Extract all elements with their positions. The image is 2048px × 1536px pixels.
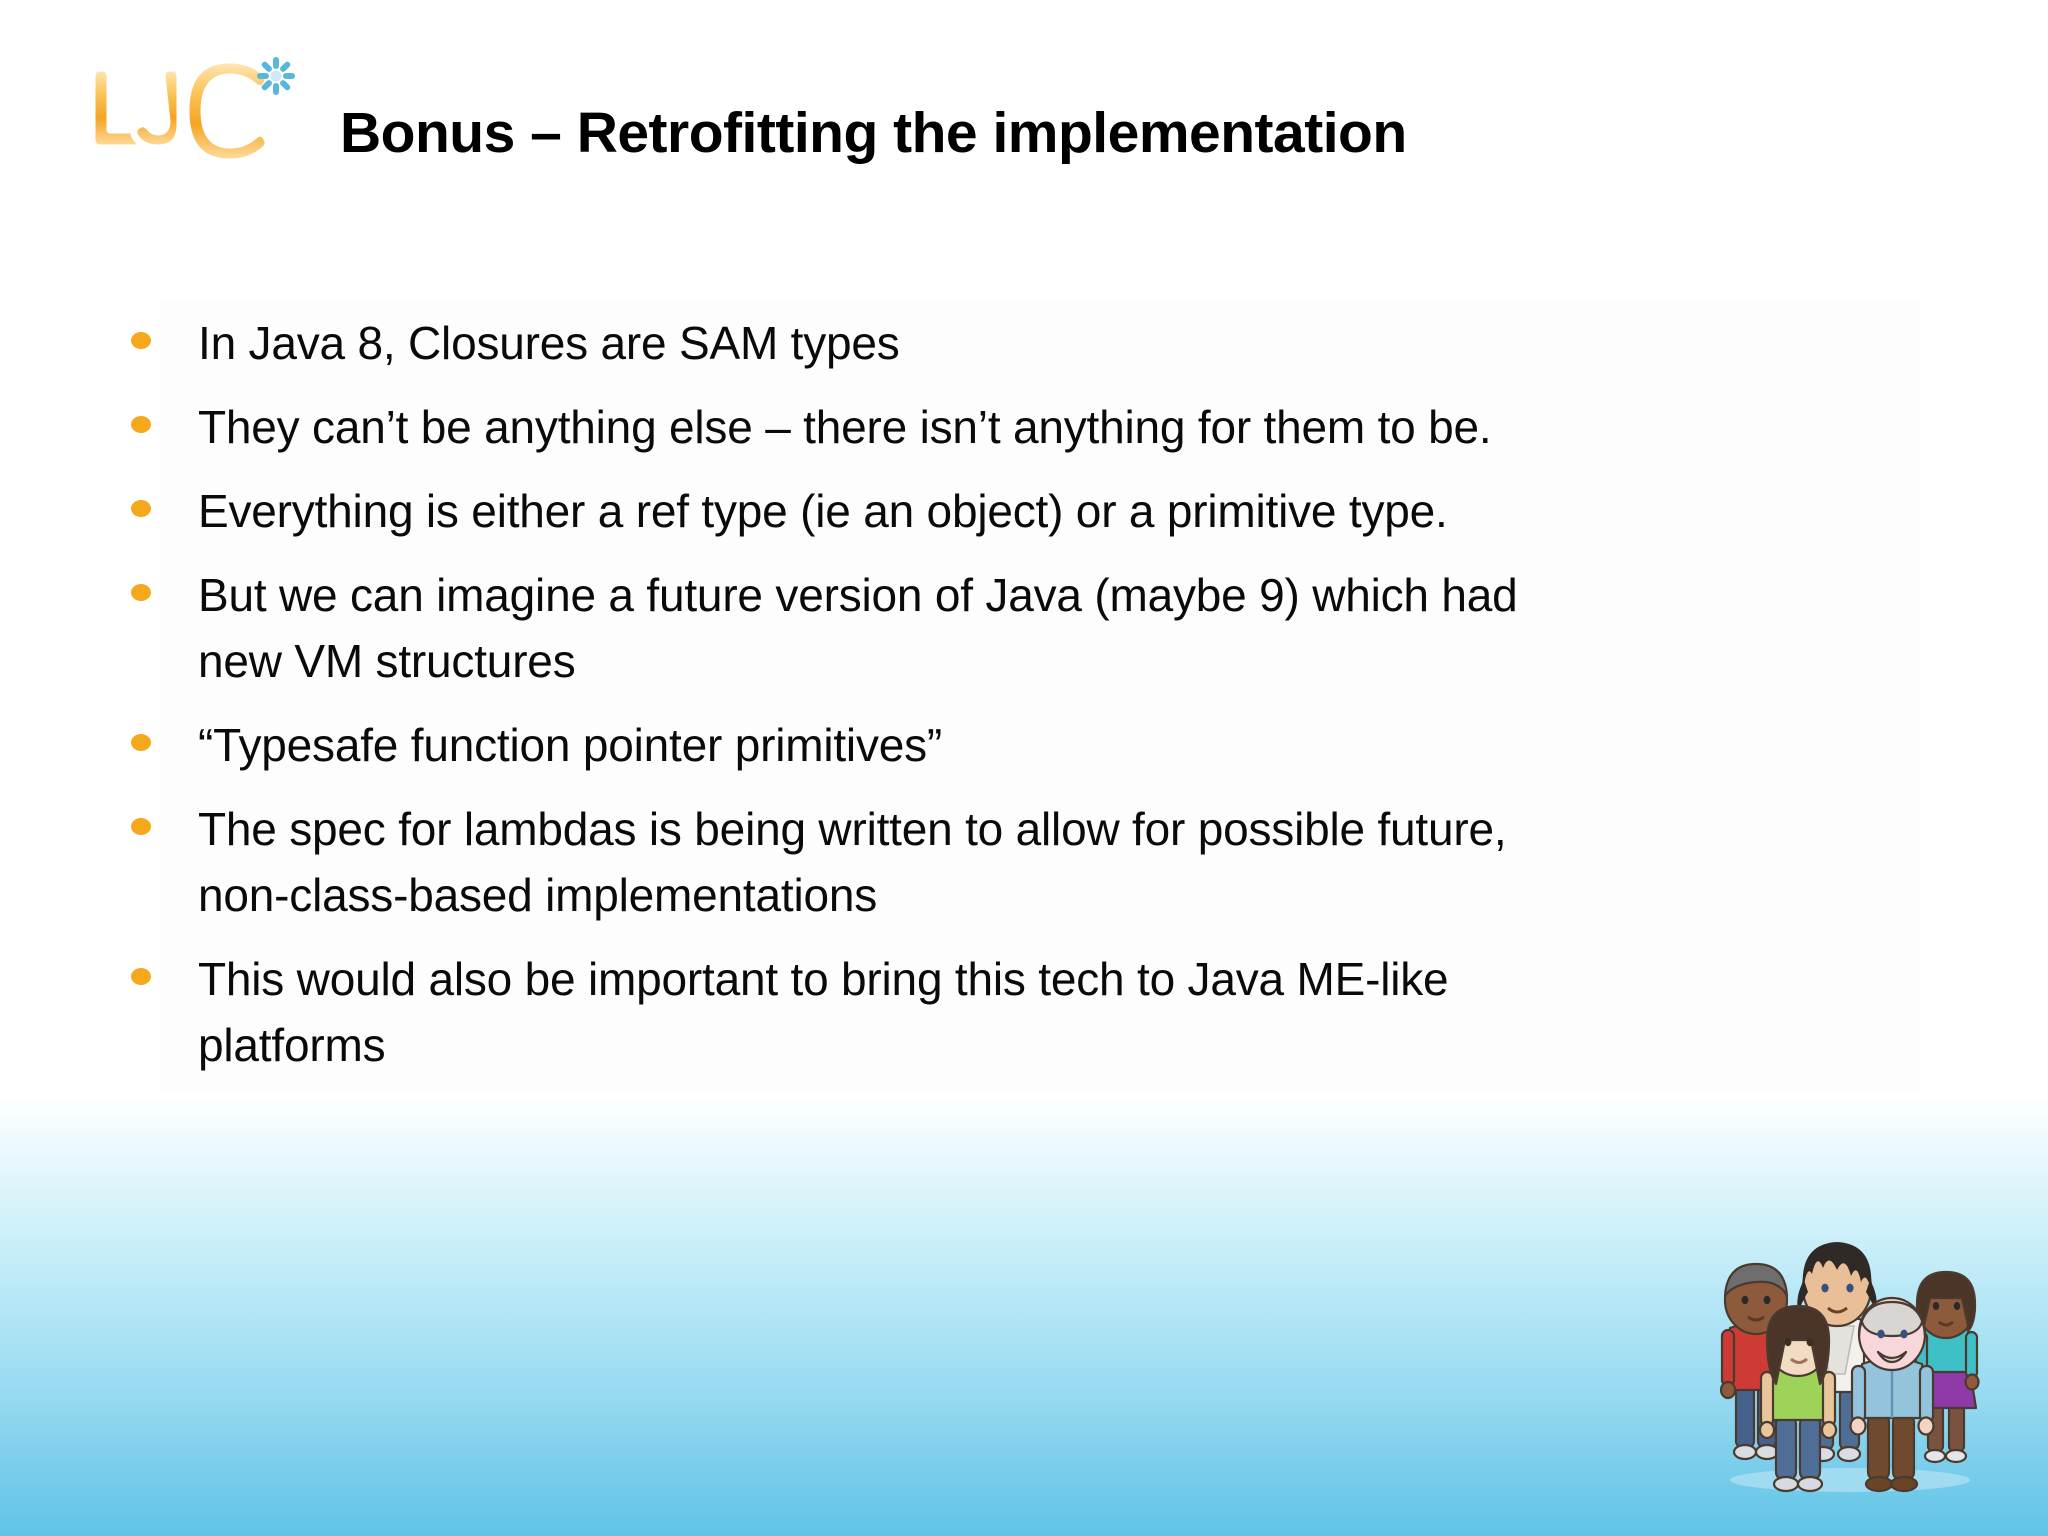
group-of-people-image	[1700, 1218, 2000, 1498]
list-item: “Typesafe function pointer primitives”	[128, 712, 1928, 778]
list-item-label-wrap: non-class-based implementations	[198, 862, 1928, 928]
ljc-logo	[78, 52, 328, 172]
list-item-label-wrap: new VM structures	[198, 628, 1928, 694]
list-item-label-wrap: platforms	[198, 1012, 1928, 1078]
bullet-dot-icon	[131, 332, 151, 349]
list-item: Everything is either a ref type (ie an o…	[128, 478, 1928, 544]
list-item-label: The spec for lambdas is being written to…	[198, 796, 1928, 862]
list-item-label: In Java 8, Closures are SAM types	[198, 310, 1928, 376]
bullet-dot-icon	[131, 500, 151, 517]
list-item-label: But we can imagine a future version of J…	[198, 562, 1928, 628]
list-item-label: Everything is either a ref type (ie an o…	[198, 478, 1928, 544]
bullet-list: In Java 8, Closures are SAM types They c…	[128, 310, 1928, 1096]
list-item-label: “Typesafe function pointer primitives”	[198, 712, 1928, 778]
bullet-dot-icon	[131, 734, 151, 751]
list-item-label: This would also be important to bring th…	[198, 946, 1928, 1012]
bullet-dot-icon	[131, 584, 151, 601]
bullet-dot-icon	[131, 416, 151, 433]
list-item: They can’t be anything else – there isn’…	[128, 394, 1928, 460]
person-front-left	[1760, 1306, 1836, 1491]
list-item: In Java 8, Closures are SAM types	[128, 310, 1928, 376]
list-item: This would also be important to bring th…	[128, 946, 1928, 1078]
list-item-label: They can’t be anything else – there isn’…	[198, 394, 1928, 460]
page-title: Bonus – Retrofitting the implementation	[340, 104, 1840, 164]
bullet-dot-icon	[131, 818, 151, 835]
person-front-right	[1851, 1298, 1934, 1491]
list-item: The spec for lambdas is being written to…	[128, 796, 1928, 928]
slide-canvas: Bonus – Retrofitting the implementation …	[0, 0, 2048, 1536]
list-item: But we can imagine a future version of J…	[128, 562, 1928, 694]
starburst-icon	[257, 57, 295, 95]
bullet-dot-icon	[131, 968, 151, 985]
